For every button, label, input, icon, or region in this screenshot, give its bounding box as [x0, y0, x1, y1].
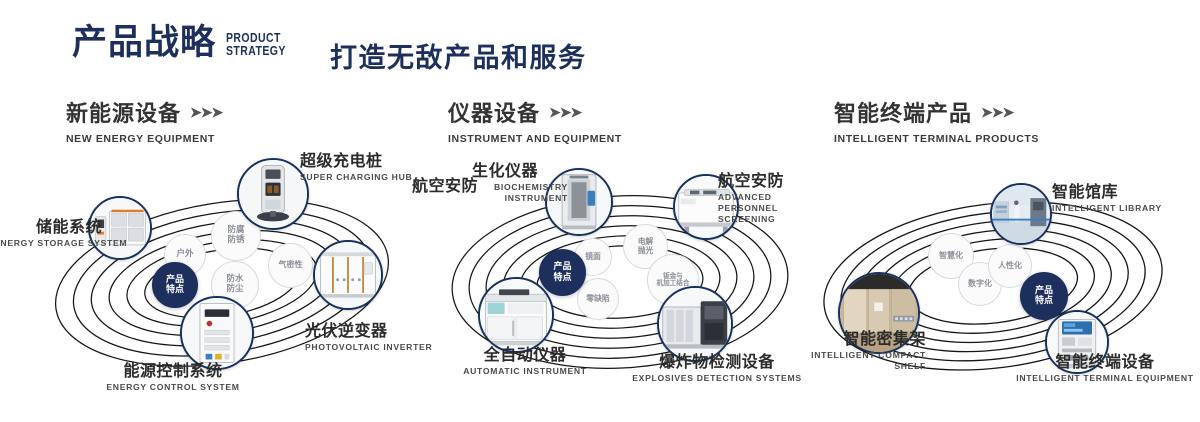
section-header-instrument: 仪器设备 ➤➤➤ INSTRUMENT AND EQUIPMENT — [448, 96, 622, 145]
section-subtitle-intelligent: INTELLIGENT TERMINAL PRODUCTS — [834, 133, 1039, 145]
label-en: AUTOMATIC INSTRUMENT — [430, 366, 620, 377]
label-cn: 储能系统 — [0, 218, 102, 236]
product-strategy-infographic: 产品战略 PRODUCT STRATEGY 打造无敌产品和服务 新能源设备 ➤➤… — [0, 0, 1200, 422]
label-en: BIOCHEMISTRY INSTRUMENT — [472, 182, 568, 203]
pv-inverter-photo-icon — [315, 242, 381, 308]
feature-bubble-line: 零缺陷 — [586, 295, 609, 304]
core-bubble-line1: 产品 — [1035, 286, 1053, 296]
product-circle-automatic-instrument[interactable] — [478, 277, 554, 353]
label-automatic-instrument: 全自动仪器 AUTOMATIC INSTRUMENT — [430, 346, 620, 377]
feature-bubble-line: 防锈 — [227, 236, 244, 246]
label-aviation-security-aside: 航空安防 — [412, 177, 478, 195]
chevron-right-triple-icon: ➤➤➤ — [981, 104, 1013, 121]
label-intelligent-compact-shelf: 智能密集架 INTELLIGENT COMPACT SHELF — [800, 330, 926, 372]
label-en: SUPER CHARGING HUB — [300, 172, 412, 183]
core-bubble-line2: 特点 — [553, 273, 571, 283]
page-title-block: 产品战略 PRODUCT STRATEGY — [72, 26, 297, 61]
feature-bubble-line: 人性化 — [998, 262, 1022, 271]
feature-bubble-line: 防尘 — [226, 285, 243, 295]
label-intelligent-library: 智能馆库 INTELLIGENT LIBRARY — [1052, 183, 1162, 214]
core-bubble-line2: 特点 — [1035, 296, 1053, 306]
section-title-instrument: 仪器设备 ➤➤➤ — [448, 96, 622, 128]
label-cn: 光伏逆变器 — [305, 322, 432, 340]
page-title: 产品战略 — [72, 26, 216, 61]
product-circle-charging-hub[interactable] — [237, 158, 309, 230]
section-title-new-energy: 新能源设备 ➤➤➤ — [66, 96, 222, 128]
feature-bubble-airtightness: 气密性 — [268, 243, 313, 288]
label-cn: 智能密集架 — [800, 330, 926, 348]
page-subtitle: 打造无敌产品和服务 — [330, 36, 587, 75]
feature-bubble-line: 气密性 — [279, 261, 303, 270]
label-cn: 智能终端设备 — [1010, 353, 1200, 371]
label-energy-control-system: 能源控制系统 ENERGY CONTROL SYSTEM — [78, 362, 268, 393]
label-cn: 智能馆库 — [1052, 183, 1162, 201]
feature-bubble-line: 智慧化 — [939, 252, 963, 261]
feature-bubble-line: 户外 — [176, 250, 193, 260]
section-header-new-energy: 新能源设备 ➤➤➤ NEW ENERGY EQUIPMENT — [66, 96, 222, 145]
automatic-analyzer-photo-icon — [480, 279, 552, 351]
label-en: PHOTOVOLTAIC INVERTER — [305, 342, 432, 353]
section-title-intelligent: 智能终端产品 ➤➤➤ — [834, 96, 1039, 128]
chevron-right-triple-icon: ➤➤➤ — [190, 104, 222, 121]
label-en: INTELLIGENT LIBRARY — [1052, 203, 1162, 214]
section-title-text: 新能源设备 — [66, 96, 181, 128]
label-cn: 能源控制系统 — [78, 362, 268, 380]
core-bubble-line1: 产品 — [166, 275, 184, 285]
page-title-english-line2: STRATEGY — [226, 45, 286, 58]
label-photovoltaic-inverter: 光伏逆变器 PHOTOVOLTAIC INVERTER — [305, 322, 432, 353]
label-en: INTELLIGENT COMPACT SHELF — [800, 350, 926, 371]
page-title-english: PRODUCT STRATEGY — [226, 32, 286, 58]
product-circle-energy-control[interactable] — [180, 296, 254, 370]
label-biochemistry-instrument: 生化仪器 BIOCHEMISTRY INSTRUMENT — [472, 162, 568, 204]
control-cabinet-photo-icon — [182, 298, 252, 368]
section-title-text: 仪器设备 — [448, 96, 540, 128]
label-en: EXPLOSIVES DETECTION SYSTEMS — [612, 373, 822, 384]
label-cn: 爆炸物检测设备 — [612, 353, 822, 371]
label-en: ENERGY CONTROL SYSTEM — [78, 382, 268, 393]
chevron-right-triple-icon: ➤➤➤ — [549, 104, 581, 121]
label-energy-storage-system: 储能系统 ENERGY STORAGE SYSTEM — [0, 218, 102, 249]
label-explosives-detection-systems: 爆炸物检测设备 EXPLOSIVES DETECTION SYSTEMS — [612, 353, 822, 384]
label-cn: 超级充电桩 — [300, 152, 412, 170]
product-circle-explosives-detection[interactable] — [657, 286, 733, 362]
label-intelligent-terminal-equipment: 智能终端设备 INTELLIGENT TERMINAL EQUIPMENT — [1010, 353, 1200, 384]
section-subtitle-new-energy: NEW ENERGY EQUIPMENT — [66, 133, 222, 145]
section-subtitle-instrument: INSTRUMENT AND EQUIPMENT — [448, 133, 622, 145]
feature-bubble-line: 镜面 — [585, 253, 601, 262]
label-cn: 生化仪器 — [472, 162, 568, 180]
feature-bubble-line: 数字化 — [968, 280, 992, 289]
core-bubble-line1: 产品 — [553, 262, 571, 272]
library-interior-photo-icon — [992, 185, 1050, 243]
section-header-intelligent: 智能终端产品 ➤➤➤ INTELLIGENT TERMINAL PRODUCTS — [834, 96, 1039, 145]
core-bubble-line2: 特点 — [166, 285, 184, 295]
section-title-text: 智能终端产品 — [834, 96, 972, 128]
product-circle-intelligent-library[interactable] — [990, 183, 1052, 245]
label-cn: 全自动仪器 — [430, 346, 620, 364]
feature-bubble-line: 抛光 — [638, 247, 654, 256]
charging-pile-photo-icon — [239, 160, 307, 228]
label-cn: 航空安防 — [412, 177, 478, 195]
label-super-charging-hub: 超级充电桩 SUPER CHARGING HUB — [300, 152, 412, 183]
explosive-detector-photo-icon — [659, 288, 731, 360]
product-circle-pv-inverter[interactable] — [313, 240, 383, 310]
label-en: INTELLIGENT TERMINAL EQUIPMENT — [1010, 373, 1200, 384]
feature-bubble-zero-defect: 零缺陷 — [577, 278, 619, 320]
label-en: ENERGY STORAGE SYSTEM — [0, 238, 102, 249]
